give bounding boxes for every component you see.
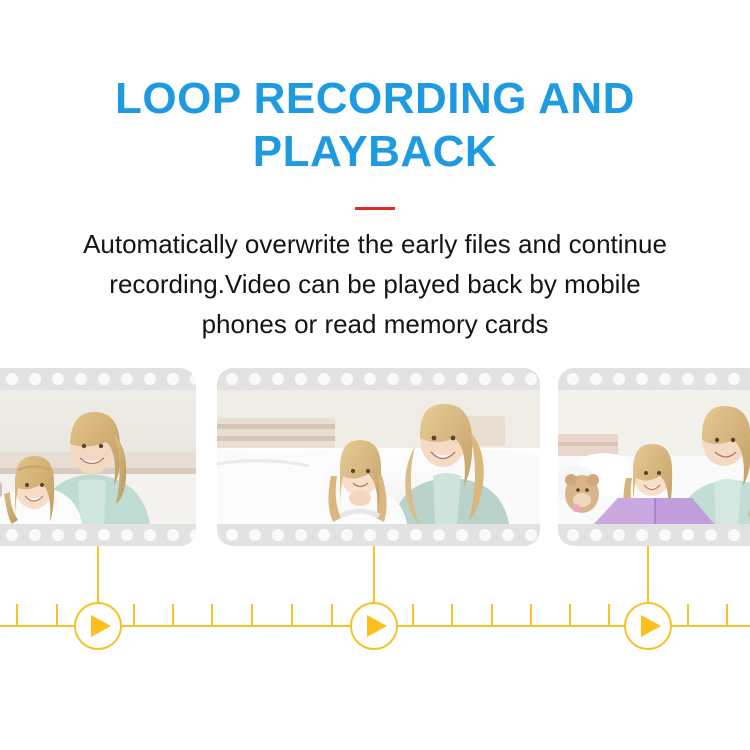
page-title-line-1: LOOP RECORDING AND [115, 74, 635, 123]
page-title-line-2: PLAYBACK [0, 125, 750, 178]
sprocket-hole-icon [341, 373, 353, 385]
sprocket-hole-icon [636, 529, 648, 541]
sprocket-hole-icon [144, 529, 156, 541]
sprocket-hole-icon [705, 373, 717, 385]
film-frame-3 [558, 368, 750, 546]
sprocket-hole-icon [525, 529, 537, 541]
sprocket-hole-icon [52, 373, 64, 385]
sprocket-row-top-3 [558, 368, 750, 390]
sprocket-hole-icon [567, 373, 579, 385]
sprocket-hole-icon [98, 373, 110, 385]
sprocket-row-bottom-1 [0, 524, 196, 546]
film-frame-2 [217, 368, 540, 546]
sprocket-hole-icon [433, 529, 445, 541]
photo-1-artwork [0, 390, 196, 524]
sprocket-hole-icon [659, 373, 671, 385]
sprocket-row-top-1 [0, 368, 196, 390]
sprocket-hole-icon [226, 529, 238, 541]
sprocket-hole-icon [636, 373, 648, 385]
sprocket-hole-icon [410, 373, 422, 385]
red-divider [355, 207, 395, 210]
photo-3-artwork [558, 390, 750, 524]
sprocket-row-bottom-3 [558, 524, 750, 546]
play-marker-1[interactable] [75, 603, 121, 649]
sprocket-hole-icon [167, 529, 179, 541]
play-marker-3[interactable] [625, 603, 671, 649]
sprocket-hole-icon [272, 373, 284, 385]
promo-banner: LOOP RECORDING AND PLAYBACK Automaticall… [0, 0, 750, 750]
sprocket-hole-icon [479, 373, 491, 385]
sprocket-hole-icon [121, 373, 133, 385]
sprocket-hole-icon [502, 529, 514, 541]
filmstrip-gallery [0, 368, 750, 546]
sprocket-hole-icon [190, 529, 196, 541]
sprocket-hole-icon [226, 373, 238, 385]
sprocket-hole-icon [144, 373, 156, 385]
photo-3 [558, 390, 750, 524]
sprocket-hole-icon [659, 529, 671, 541]
sprocket-hole-icon [341, 529, 353, 541]
photo-2-artwork [217, 390, 540, 524]
sprocket-hole-icon [590, 373, 602, 385]
play-marker-2[interactable] [351, 603, 397, 649]
sprocket-hole-icon [272, 529, 284, 541]
sprocket-hole-icon [318, 529, 330, 541]
sprocket-hole-icon [98, 529, 110, 541]
sprocket-hole-icon [433, 373, 445, 385]
subtitle-line-1: Automatically overwrite the early files … [20, 224, 730, 264]
sprocket-hole-icon [249, 529, 261, 541]
sprocket-hole-icon [682, 373, 694, 385]
sprocket-hole-icon [387, 373, 399, 385]
playback-timeline[interactable] [0, 546, 750, 666]
timeline-connectors [98, 546, 648, 604]
sprocket-hole-icon [295, 529, 307, 541]
sprocket-hole-icon [249, 373, 261, 385]
sprocket-hole-icon [295, 373, 307, 385]
photo-2 [217, 390, 540, 524]
sprocket-hole-icon [525, 373, 537, 385]
sprocket-hole-icon [75, 373, 87, 385]
sprocket-hole-icon [456, 529, 468, 541]
sprocket-hole-icon [410, 529, 422, 541]
sprocket-hole-icon [613, 373, 625, 385]
sprocket-hole-icon [567, 529, 579, 541]
subtitle-line-3: phones or read memory cards [20, 304, 730, 344]
sprocket-hole-icon [590, 529, 602, 541]
sprocket-hole-icon [75, 529, 87, 541]
sprocket-hole-icon [705, 529, 717, 541]
sprocket-row-bottom-2 [217, 524, 540, 546]
sprocket-hole-icon [29, 529, 41, 541]
sprocket-hole-icon [29, 373, 41, 385]
sprocket-hole-icon [52, 529, 64, 541]
sprocket-row-top-2 [217, 368, 540, 390]
subtitle-text: Automatically overwrite the early files … [20, 224, 730, 344]
photo-1 [0, 390, 196, 524]
sprocket-hole-icon [387, 529, 399, 541]
sprocket-hole-icon [167, 373, 179, 385]
sprocket-hole-icon [613, 529, 625, 541]
sprocket-hole-icon [318, 373, 330, 385]
sprocket-hole-icon [364, 529, 376, 541]
sprocket-hole-icon [6, 373, 18, 385]
sprocket-hole-icon [121, 529, 133, 541]
subtitle-line-2: recording.Video can be played back by mo… [20, 264, 730, 304]
sprocket-hole-icon [364, 373, 376, 385]
sprocket-hole-icon [728, 529, 740, 541]
film-frame-1 [0, 368, 196, 546]
sprocket-hole-icon [6, 529, 18, 541]
sprocket-hole-icon [682, 529, 694, 541]
timeline-artwork [0, 546, 750, 666]
sprocket-hole-icon [479, 529, 491, 541]
sprocket-hole-icon [456, 373, 468, 385]
sprocket-hole-icon [502, 373, 514, 385]
sprocket-hole-icon [190, 373, 196, 385]
page-title: LOOP RECORDING AND PLAYBACK [0, 72, 750, 178]
sprocket-hole-icon [728, 373, 740, 385]
